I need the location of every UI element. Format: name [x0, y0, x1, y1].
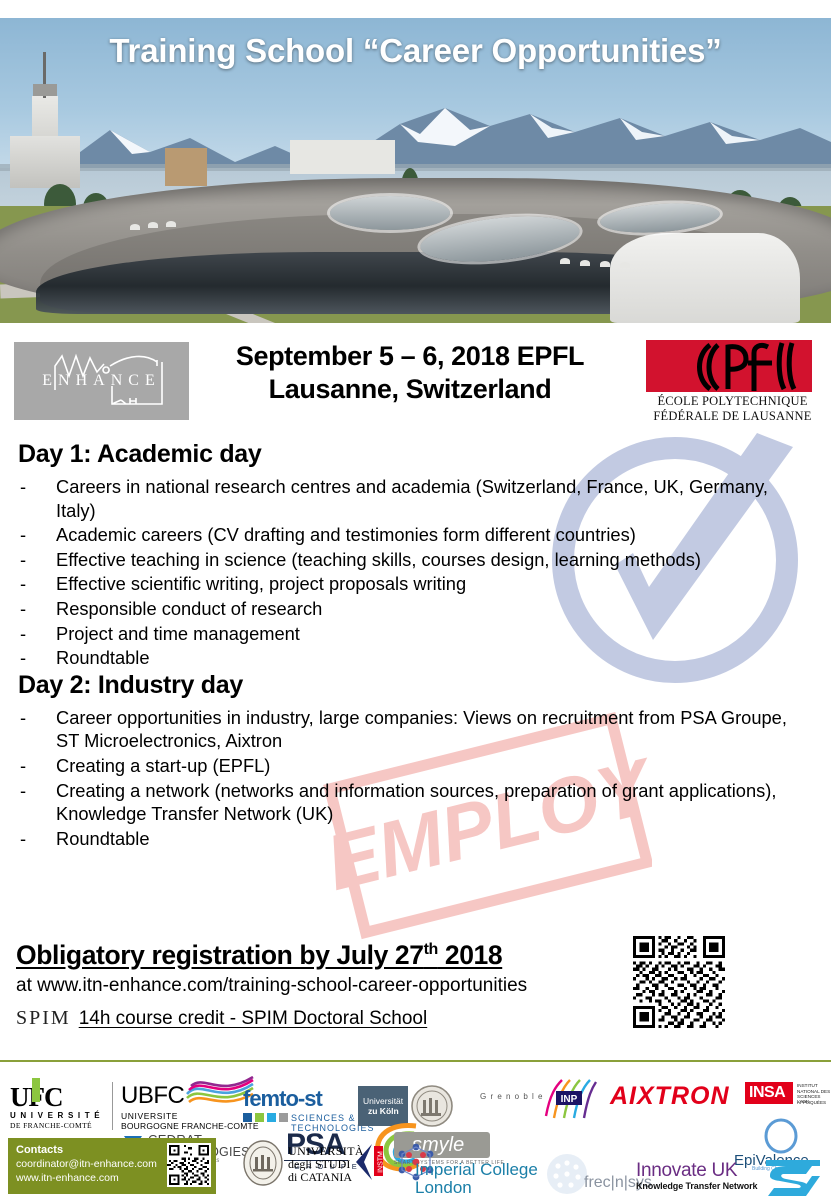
enhance-logo-text: ENHANCE [14, 372, 189, 390]
registration-headline-pre: Obligatory registration by July 27 [16, 940, 424, 970]
epfl-logo: ÉCOLE POLYTECHNIQUE FÉDÉRALE DE LAUSANNE [640, 340, 825, 428]
logo-uni-koeln-line2: zu Köln [368, 1106, 399, 1116]
date-bar: ENHANCE September 5 – 6, 2018 EPFL Lausa… [0, 338, 831, 434]
day2-list: -Career opportunities in industry, large… [18, 706, 831, 851]
logo-femto-st-squares [243, 1113, 288, 1122]
logo-grenoble-inp-icon: INP [540, 1078, 598, 1120]
spim-logo-text: SPIM [16, 1007, 71, 1030]
logo-ufc: UFC U N I V E R S I T É DE FRANCHE-COMTÉ [10, 1082, 105, 1130]
epfl-sub-line1: ÉCOLE POLYTECHNIQUE [640, 394, 825, 409]
epfl-sub-line2: FÉDÉRALE DE LAUSANNE [640, 409, 825, 424]
list-item-text: Career opportunities in industry, large … [56, 707, 787, 752]
list-item: -Effective scientific writing, project p… [18, 572, 808, 596]
logo-aixtron: AIXTRON [610, 1082, 735, 1112]
bullet-dash: - [20, 622, 26, 646]
logo-insa-wordmark: INSA [749, 1084, 785, 1102]
list-item: -Roundtable [18, 827, 808, 851]
list-item-text: Effective scientific writing, project pr… [56, 573, 466, 594]
logo-ufc-green-bar [32, 1078, 40, 1102]
list-item: -Project and time management [18, 622, 808, 646]
epfl-wordmark-icon [688, 339, 808, 393]
list-item: -Responsible conduct of research [18, 597, 808, 621]
registration-headline: Obligatory registration by July 27th 201… [16, 940, 502, 971]
program-content: Day 1: Academic day -Careers in national… [0, 440, 831, 851]
logo-innovate-uk: Innovate UK Knowledge Transfer Network [636, 1160, 751, 1194]
list-item: -Creating a start-up (EPFL) [18, 754, 808, 778]
list-item: -Effective teaching in science (teaching… [18, 548, 808, 572]
list-item: -Careers in national research centres an… [18, 475, 808, 522]
logo-imperial-line1: Imperial College [415, 1160, 538, 1180]
event-date-line2: Lausanne, Switzerland [195, 373, 625, 406]
day1-heading: Day 1: Academic day [18, 440, 831, 469]
list-item: -Roundtable [18, 646, 808, 670]
day1-list: -Careers in national research centres an… [18, 475, 831, 670]
logo-catania-line3: di CATANIA [288, 1170, 352, 1185]
logo-insa-line3: LYON [797, 1099, 809, 1104]
bullet-dash: - [20, 523, 26, 547]
svg-text:INSTM: INSTM [378, 1151, 385, 1173]
logo-catania-seal-icon [242, 1140, 284, 1186]
list-item-text: Responsible conduct of research [56, 598, 322, 619]
bullet-dash: - [20, 548, 26, 572]
logo-uni-koeln-line1: Universität [363, 1096, 403, 1106]
logo-ufc-line3: DE FRANCHE-COMTÉ [10, 1121, 92, 1130]
bullet-dash: - [20, 779, 26, 803]
white-wall-facade [610, 233, 800, 323]
contacts-qr-code[interactable] [167, 1143, 211, 1187]
epfl-logo-subtitle: ÉCOLE POLYTECHNIQUE FÉDÉRALE DE LAUSANNE [640, 394, 825, 425]
list-item-text: Careers in national research centres and… [56, 476, 768, 521]
bullet-dash: - [20, 706, 26, 730]
logo-ubfc-line2: UNIVERSITE [121, 1111, 178, 1121]
list-item: -Creating a network (networks and inform… [18, 779, 808, 826]
logo-ubfc-wordmark: UBFC [121, 1082, 184, 1110]
list-item-text: Academic careers (CV drafting and testim… [56, 524, 636, 545]
enhance-logo: ENHANCE [14, 342, 189, 420]
logo-imperial-line2: London [415, 1178, 472, 1198]
logo-femto-st-wordmark: femto-st [243, 1086, 322, 1112]
registration-qr-code[interactable] [625, 936, 733, 1028]
list-item-text: Effective teaching in science (teaching … [56, 549, 701, 570]
logo-imperial-college: Imperial College London [415, 1160, 545, 1196]
footer-divider [0, 1060, 831, 1062]
roof-patio-1 [330, 196, 450, 230]
list-item-text: Roundtable [56, 828, 150, 849]
list-item: -Career opportunities in industry, large… [18, 706, 808, 753]
list-item: -Academic careers (CV drafting and testi… [18, 523, 808, 547]
contacts-heading: Contacts [16, 1144, 63, 1156]
logo-insa: INSA INSTITUT NATIONAL DES SCIENCES APPL… [745, 1082, 830, 1114]
day2-heading: Day 2: Industry day [18, 671, 831, 700]
page-title: Training School “Career Opportunities” [0, 32, 831, 70]
logo-grenoble-inp: G r e n o b l e INP [480, 1080, 600, 1120]
bullet-dash: - [20, 572, 26, 596]
registration-headline-post: 2018 [438, 940, 502, 970]
list-item-text: Creating a start-up (EPFL) [56, 755, 270, 776]
logo-epivalence-ring-icon [760, 1118, 802, 1154]
list-item-text: Creating a network (networks and informa… [56, 780, 776, 825]
logo-innovate-uk-line1: Innovate UK [636, 1160, 737, 1182]
sponsor-logo-strip: UFC U N I V E R S I T É DE FRANCHE-COMTÉ… [0, 1060, 831, 1200]
bullet-dash: - [20, 597, 26, 621]
logo-femto-st-line2: SCIENCES & [291, 1113, 356, 1123]
logo-aixtron-wordmark: AIXTRON [610, 1082, 730, 1111]
bullet-dash: - [20, 646, 26, 670]
event-date-line1: September 5 – 6, 2018 EPFL [195, 340, 625, 373]
logo-innovate-uk-line2: Knowledge Transfer Network [636, 1181, 757, 1191]
logo-femto-st: femto-st SCIENCES & TECHNOLOGIES [243, 1086, 353, 1130]
bullet-dash: - [20, 827, 26, 851]
bullet-dash: - [20, 754, 26, 778]
contacts-box: Contacts coordinator@itn-enhance.com www… [8, 1138, 216, 1194]
svg-text:INP: INP [561, 1094, 578, 1105]
logo-ufc-line2: U N I V E R S I T É [10, 1111, 101, 1120]
logo-st-icon [762, 1156, 824, 1198]
list-item-text: Roundtable [56, 647, 150, 668]
registration-headline-ordinal: th [424, 941, 438, 958]
list-item-text: Project and time management [56, 623, 300, 644]
spim-credit-text: 14h course credit - SPIM Doctoral School [79, 1008, 428, 1030]
hero-photo: Training School “Career Opportunities” [0, 18, 831, 323]
bullet-dash: - [20, 475, 26, 499]
logo-ubfc: UBFC UNIVERSITE BOURGOGNE FRANCHE-COMTE [112, 1082, 237, 1130]
event-date-block: September 5 – 6, 2018 EPFL Lausanne, Swi… [195, 340, 625, 406]
logo-grenoble-inp-line1: G r e n o b l e [480, 1092, 543, 1101]
logo-frecnsys: frec|n|sys [548, 1160, 648, 1200]
logo-infn-icon: INSTM [352, 1140, 396, 1184]
